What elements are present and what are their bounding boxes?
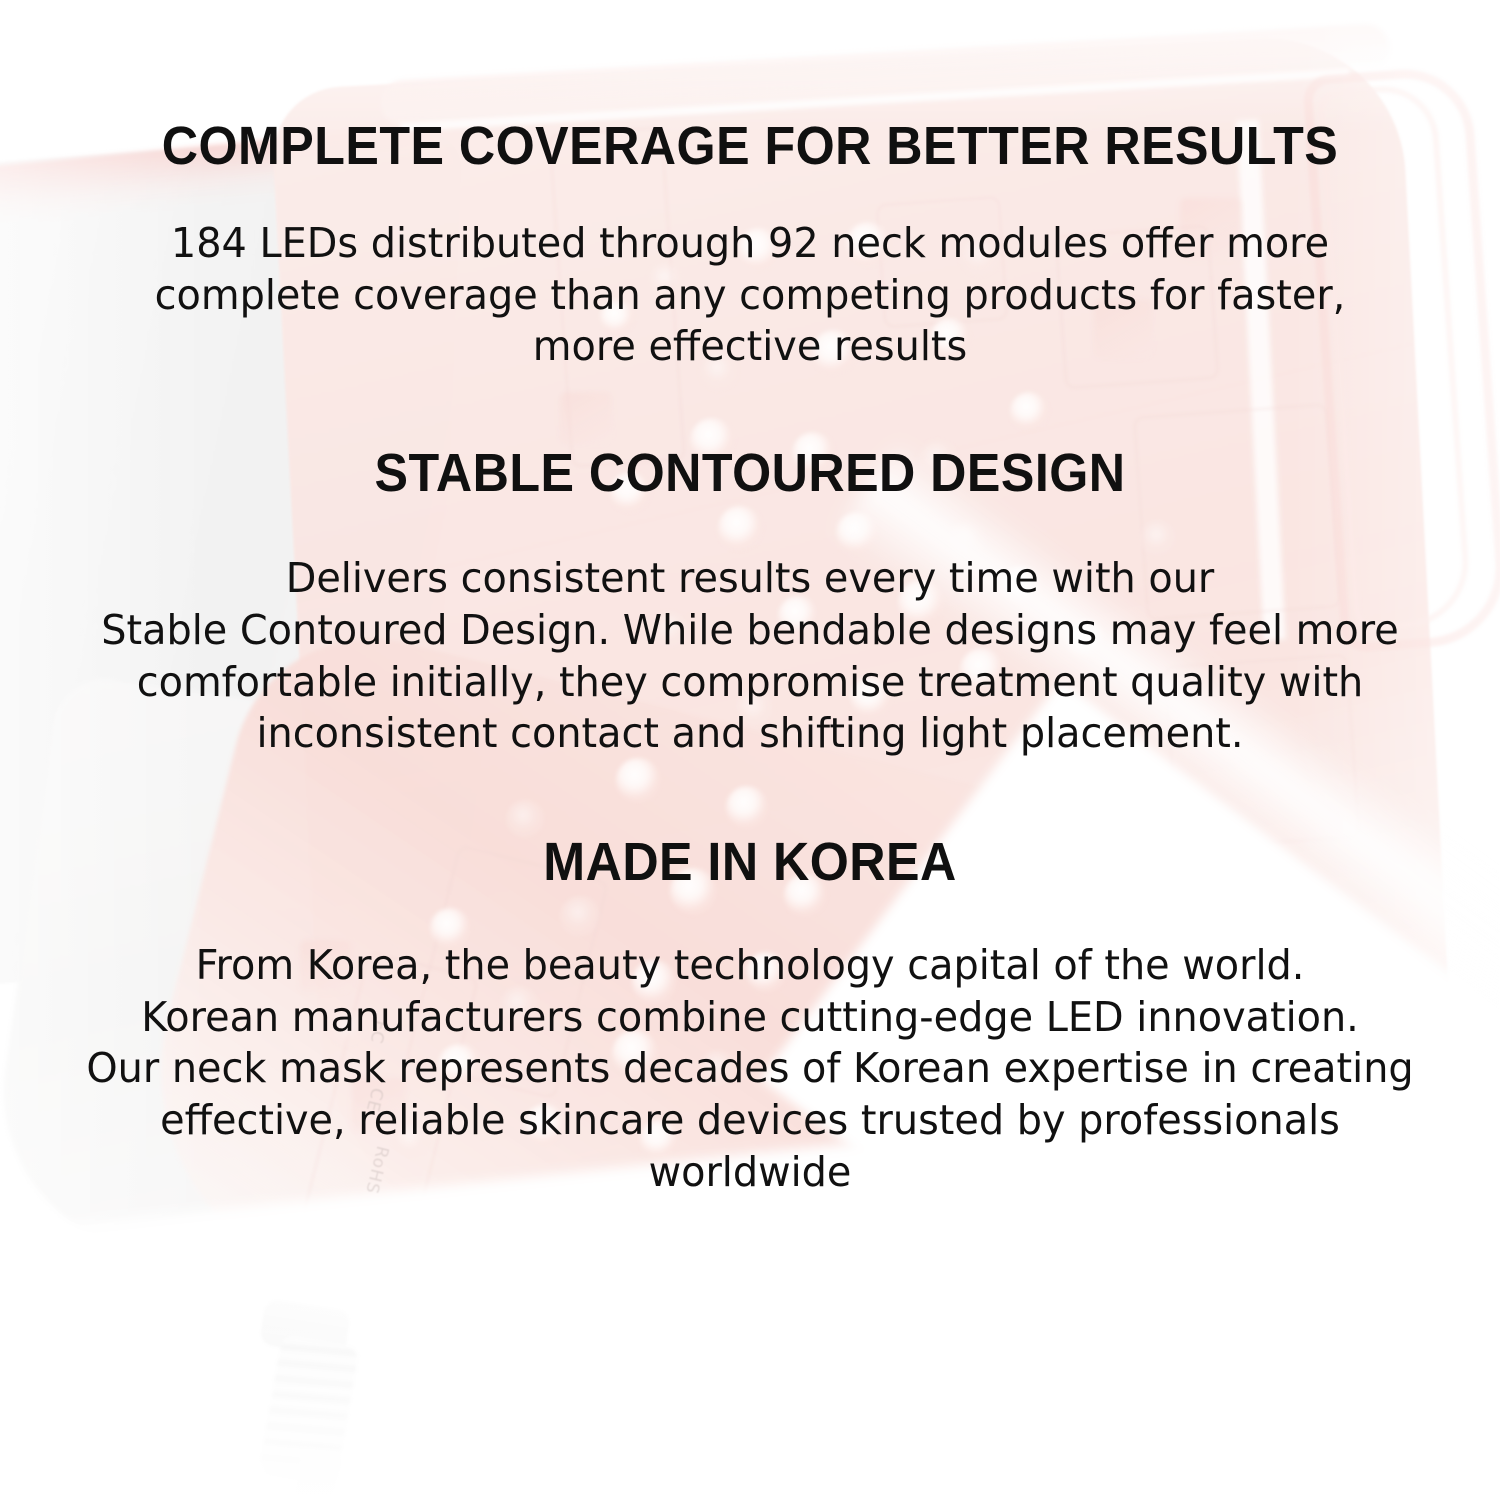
section-heading-stable-contoured-design: STABLE CONTOURED DESIGN: [110, 445, 1390, 501]
infographic-content: COMPLETE COVERAGE FOR BETTER RESULTS 184…: [0, 0, 1500, 1500]
body-line: From Korea, the beauty technology capita…: [83, 940, 1418, 992]
section-body-stable-contoured-design: Delivers consistent results every time w…: [83, 553, 1418, 760]
section-body-complete-coverage: 184 LEDs distributed through 92 neck mod…: [83, 218, 1418, 373]
body-line: Korean manufacturers combine cutting-edg…: [83, 992, 1418, 1044]
body-line: inconsistent contact and shifting light …: [83, 708, 1418, 760]
section-made-in-korea: MADE IN KOREA From Korea, the beauty tec…: [62, 834, 1438, 1198]
section-heading-made-in-korea: MADE IN KOREA: [110, 834, 1390, 890]
body-line: 184 LEDs distributed through 92 neck mod…: [83, 218, 1418, 270]
body-line: Stable Contoured Design. While bendable …: [83, 605, 1418, 657]
body-line: Our neck mask represents decades of Kore…: [83, 1043, 1418, 1095]
infographic-page: RoHS CE FC COMPLETE COVERAGE FOR BETTER …: [0, 0, 1500, 1500]
section-complete-coverage: COMPLETE COVERAGE FOR BETTER RESULTS 184…: [62, 118, 1438, 373]
body-line: effective, reliable skincare devices tru…: [83, 1095, 1418, 1147]
body-line: worldwide: [83, 1147, 1418, 1199]
section-body-made-in-korea: From Korea, the beauty technology capita…: [83, 940, 1418, 1198]
section-heading-complete-coverage: COMPLETE COVERAGE FOR BETTER RESULTS: [110, 118, 1390, 174]
body-line: Delivers consistent results every time w…: [83, 553, 1418, 605]
body-line: more effective results: [83, 321, 1418, 373]
body-line: comfortable initially, they compromise t…: [83, 657, 1418, 709]
body-line: complete coverage than any competing pro…: [83, 270, 1418, 322]
section-stable-contoured-design: STABLE CONTOURED DESIGN Delivers consist…: [62, 445, 1438, 760]
